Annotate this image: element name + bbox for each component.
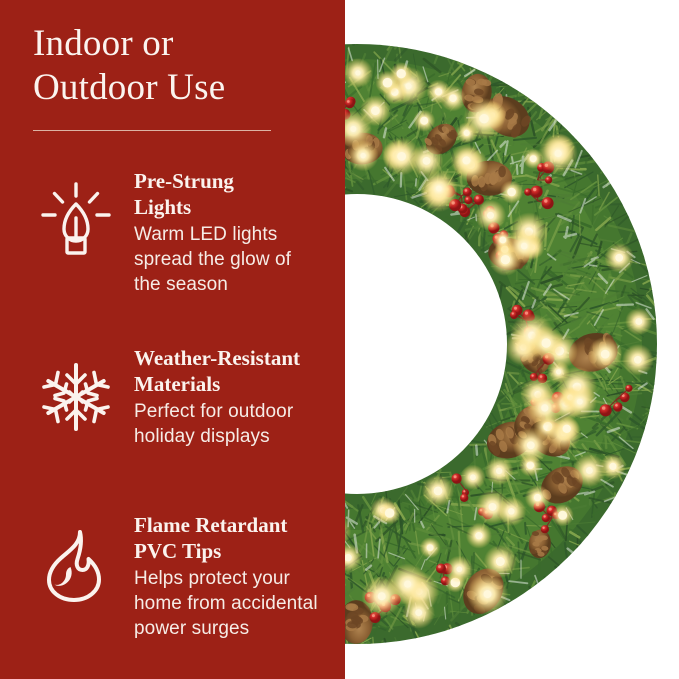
- feature-body: Helps protect your home from accidental …: [134, 566, 334, 641]
- product-image-pre-lit-christmas-wreath: [345, 0, 679, 679]
- snowflake-icon: [30, 351, 122, 443]
- feature-title-line-1: Flame Retardant: [134, 512, 334, 538]
- feature-text-block: Flame Retardant PVC Tips Helps protect y…: [134, 512, 334, 641]
- feature-body-line-3: the season: [134, 272, 334, 297]
- feature-body-line-3: power surges: [134, 616, 334, 641]
- feature-body: Perfect for outdoor holiday displays: [134, 399, 334, 449]
- feature-body-line-2: home from accidental: [134, 591, 334, 616]
- wreath-ring: [345, 29, 679, 672]
- feature-title-line-2: Lights: [134, 194, 334, 220]
- feature-text-block: Pre-Strung Lights Warm LED lights spread…: [134, 168, 334, 297]
- page-title-line-1: Indoor or: [33, 22, 323, 66]
- feature-panel: Indoor or Outdoor Use: [0, 0, 345, 679]
- flame-icon: [30, 518, 122, 610]
- feature-title: Weather-Resistant Materials: [134, 345, 334, 397]
- feature-title-line-1: Pre-Strung: [134, 168, 334, 194]
- wreath-illustration: [345, 0, 679, 679]
- feature-body-line-1: Helps protect your: [134, 566, 334, 591]
- feature-body: Warm LED lights spread the glow of the s…: [134, 222, 334, 297]
- feature-title: Flame Retardant PVC Tips: [134, 512, 334, 564]
- feature-title-line-2: PVC Tips: [134, 538, 334, 564]
- christmas-light-bulb-icon: [30, 174, 122, 266]
- feature-text-block: Weather-Resistant Materials Perfect for …: [134, 345, 334, 449]
- feature-body-line-1: Perfect for outdoor: [134, 399, 334, 424]
- feature-body-line-2: holiday displays: [134, 424, 334, 449]
- feature-title-line-1: Weather-Resistant: [134, 345, 334, 371]
- page-title-line-2: Outdoor Use: [33, 66, 323, 110]
- feature-body-line-1: Warm LED lights: [134, 222, 334, 247]
- feature-title: Pre-Strung Lights: [134, 168, 334, 220]
- title-divider: [33, 130, 271, 131]
- feature-body-line-2: spread the glow of: [134, 247, 334, 272]
- product-infographic: Indoor or Outdoor Use: [0, 0, 679, 679]
- page-title: Indoor or Outdoor Use: [33, 22, 323, 110]
- feature-title-line-2: Materials: [134, 371, 334, 397]
